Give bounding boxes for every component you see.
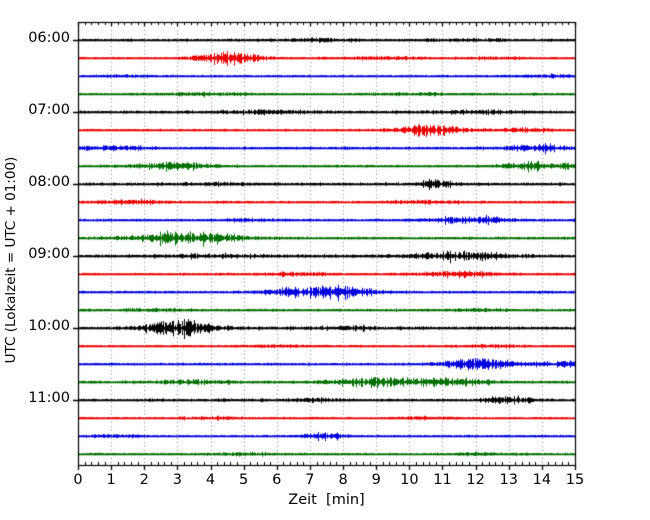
x-axis-label: Zeit [min] [78,492,575,508]
y-tick-label: 06:00 [8,30,70,46]
x-tick-label: 15 [550,472,600,488]
y-tick-label: 07:00 [8,102,70,118]
y-tick-label: 09:00 [8,246,70,262]
seismogram-plot-canvas [0,0,650,520]
y-tick-label: 11:00 [8,390,70,406]
y-tick-label: 10:00 [8,318,70,334]
seismogram-figure: UTC (Lokalzeit = UTC + 01:00) Zeit [min]… [0,0,650,520]
y-tick-label: 08:00 [8,174,70,190]
